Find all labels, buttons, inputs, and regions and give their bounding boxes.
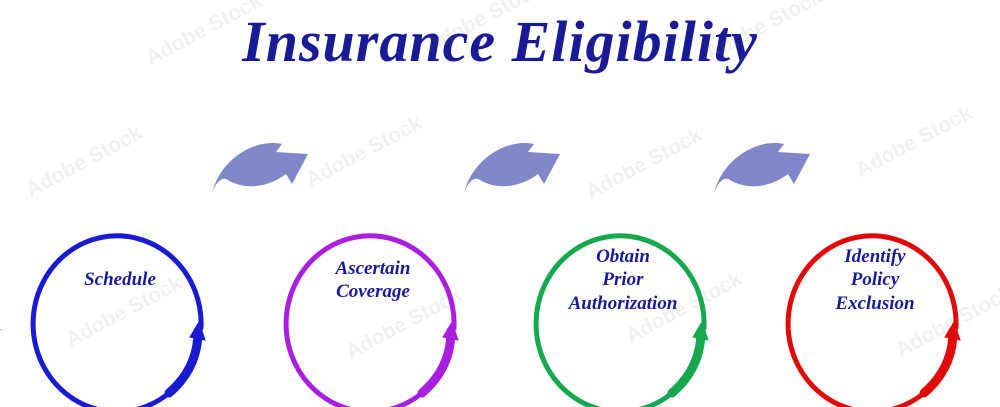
connector-arrow-1 xyxy=(210,138,314,196)
stage-schedule[interactable]: Schedule xyxy=(30,185,210,375)
connector-arrow-3 xyxy=(712,138,816,196)
page-title: Insurance Eligibility xyxy=(0,8,1000,75)
stage-ascertain-coverage[interactable]: AscertainCoverage xyxy=(283,185,463,375)
watermark-credit: Adobe Stock | #124975295 xyxy=(0,262,2,399)
connector-arrow-2 xyxy=(462,138,566,196)
circular-arrow-icon xyxy=(283,185,463,375)
stage-obtain-prior-authorization[interactable]: ObtainPriorAuthorization xyxy=(533,185,713,375)
watermark-tile: Adobe Stock xyxy=(852,101,977,182)
stage-identify-policy-exclusion[interactable]: IdentifyPolicyExclusion xyxy=(785,185,965,375)
diagram-canvas: Insurance Eligibility Adobe Stock Adobe … xyxy=(0,0,1000,407)
circular-arrow-icon xyxy=(785,185,965,375)
circular-arrow-icon xyxy=(30,185,210,375)
circular-arrow-icon xyxy=(533,185,713,375)
watermark-tile: Adobe Stock xyxy=(302,111,427,192)
